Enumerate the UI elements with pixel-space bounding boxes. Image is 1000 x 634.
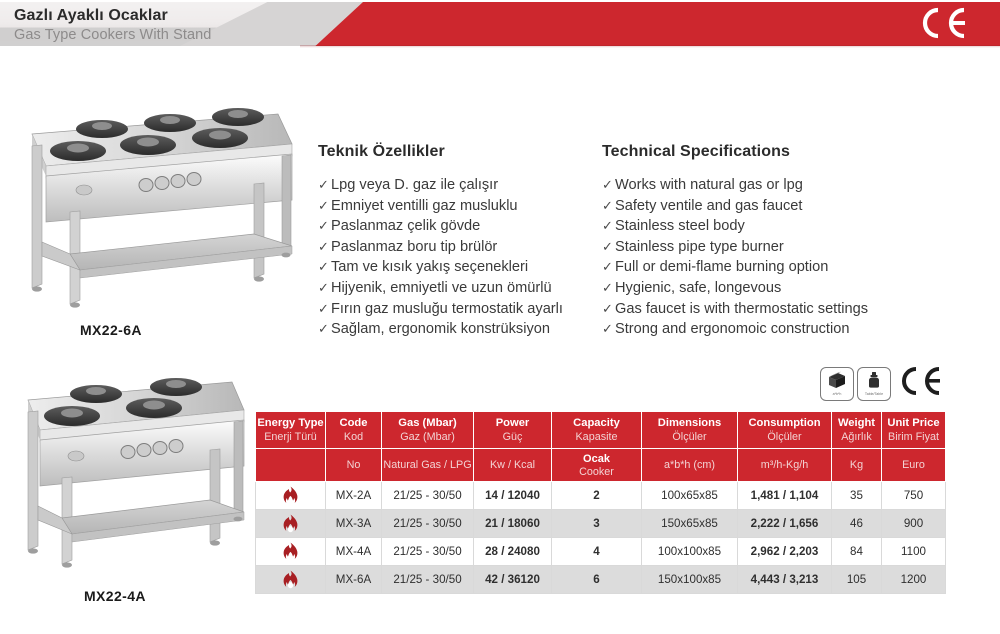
cell-unit-price: 750 <box>882 482 946 510</box>
table-header-row: Energy Type Enerji Türü Code Kod Gas (Mb… <box>256 412 946 449</box>
cell-unit-price: 1200 <box>882 566 946 594</box>
gas-bottle-icon-badge: Table/Table <box>857 367 891 401</box>
cell-gas: 21/25 - 30/50 <box>382 566 474 594</box>
check-icon: ✓ <box>602 319 615 340</box>
flame-icon <box>282 514 299 533</box>
list-item: ✓Works with natural gas or lpg <box>602 175 868 196</box>
check-icon: ✓ <box>318 319 331 340</box>
table-row: MX-4A 21/25 - 30/50 28 / 24080 4 100x100… <box>256 538 946 566</box>
check-icon: ✓ <box>602 278 615 299</box>
spec-text: Stainless steel body <box>615 218 745 234</box>
specs-turkish-list: ✓Lpg veya D. gaz ile çalışır ✓Emniyet ve… <box>318 175 563 340</box>
list-item: ✓Full or demi-flame burning option <box>602 257 868 278</box>
cell-code: MX-6A <box>326 566 382 594</box>
cell-power: 28 / 24080 <box>474 538 552 566</box>
spec-text: Hijyenik, emniyetli ve uzun ömürlü <box>331 280 552 296</box>
specs-english: Technical Specifications ✓Works with nat… <box>602 143 868 340</box>
certification-badges: a*b*h Table/Table <box>820 366 944 401</box>
cell-code: MX-4A <box>326 538 382 566</box>
column-header-energy-type: Energy Type Enerji Türü <box>256 412 326 449</box>
list-item: ✓Fırın gaz musluğu termostatik ayarlı <box>318 299 563 320</box>
spec-text: Paslanmaz boru tip brülör <box>331 239 497 255</box>
list-item: ✓Paslanmaz boru tip brülör <box>318 237 563 258</box>
column-header-weight: Weight Ağırlık <box>832 412 882 449</box>
product-caption-mx22-6a: MX22-6A <box>80 322 142 338</box>
cell-gas: 21/25 - 30/50 <box>382 510 474 538</box>
flame-icon <box>282 542 299 561</box>
table-row: MX-2A 21/25 - 30/50 14 / 12040 2 100x65x… <box>256 482 946 510</box>
list-item: ✓Tam ve kısık yakış seçenekleri <box>318 257 563 278</box>
list-item: ✓Lpg veya D. gaz ile çalışır <box>318 175 563 196</box>
cell-consumption: 1,481 / 1,104 <box>738 482 832 510</box>
gas-bottle-icon-caption: Table/Table <box>865 392 883 396</box>
cell-unit-price: 1100 <box>882 538 946 566</box>
cell-weight: 105 <box>832 566 882 594</box>
page-header: Gazlı Ayaklı Ocaklar Gas Type Cookers Wi… <box>0 0 1000 50</box>
subheader-code: No <box>326 449 382 482</box>
cell-dimensions: 100x100x85 <box>642 538 738 566</box>
spec-text: Paslanmaz çelik gövde <box>331 218 480 234</box>
check-icon: ✓ <box>602 299 615 320</box>
cell-weight: 35 <box>832 482 882 510</box>
page-title: Gazlı Ayaklı Ocaklar <box>14 7 168 25</box>
check-icon: ✓ <box>602 237 615 258</box>
cell-dimensions: 150x100x85 <box>642 566 738 594</box>
check-icon: ✓ <box>318 237 331 258</box>
cell-capacity: 4 <box>552 538 642 566</box>
list-item: ✓Hijyenik, emniyetli ve uzun ömürlü <box>318 278 563 299</box>
column-header-gas: Gas (Mbar) Gaz (Mbar) <box>382 412 474 449</box>
column-header-dimensions: Dimensions Ölçüler <box>642 412 738 449</box>
table-row: MX-3A 21/25 - 30/50 21 / 18060 3 150x65x… <box>256 510 946 538</box>
spec-text: Fırın gaz musluğu termostatik ayarlı <box>331 301 563 317</box>
check-icon: ✓ <box>602 257 615 278</box>
cell-power: 14 / 12040 <box>474 482 552 510</box>
list-item: ✓Safety ventile and gas faucet <box>602 196 868 217</box>
check-icon: ✓ <box>318 175 331 196</box>
column-header-consumption: Consumption Ölçüler <box>738 412 832 449</box>
specifications-table: Energy Type Enerji Türü Code Kod Gas (Mb… <box>255 411 946 594</box>
spec-text: Emniyet ventilli gaz musluklu <box>331 198 518 214</box>
header-band-shadow <box>300 45 1000 48</box>
spec-text: Strong and ergonomoic construction <box>615 321 849 337</box>
subheader-energy-type <box>256 449 326 482</box>
cell-consumption: 4,443 / 3,213 <box>738 566 832 594</box>
flame-icon <box>282 486 299 505</box>
table-row: MX-6A 21/25 - 30/50 42 / 36120 6 150x100… <box>256 566 946 594</box>
spec-text: Tam ve kısık yakış seçenekleri <box>331 259 528 275</box>
cell-energy-type <box>256 510 326 538</box>
cube-icon-caption: a*b*h <box>833 392 842 396</box>
gas-bottle-icon <box>866 371 882 391</box>
column-header-code: Code Kod <box>326 412 382 449</box>
table-subheader-row: No Natural Gas / LPG Kw / Kcal Ocak Cook… <box>256 449 946 482</box>
table-header: Energy Type Enerji Türü Code Kod Gas (Mb… <box>256 412 946 482</box>
cell-code: MX-3A <box>326 510 382 538</box>
cell-consumption: 2,222 / 1,656 <box>738 510 832 538</box>
list-item: ✓Stainless pipe type burner <box>602 237 868 258</box>
check-icon: ✓ <box>602 216 615 237</box>
product-image-mx22-4a <box>4 360 264 578</box>
subheader-dimensions: a*b*h (cm) <box>642 449 738 482</box>
product-caption-mx22-4a: MX22-4A <box>84 588 146 604</box>
cell-capacity: 3 <box>552 510 642 538</box>
specs-turkish: Teknik Özellikler ✓Lpg veya D. gaz ile ç… <box>318 143 563 340</box>
spec-text: Hygienic, safe, longevous <box>615 280 781 296</box>
check-icon: ✓ <box>318 216 331 237</box>
cell-code: MX-2A <box>326 482 382 510</box>
list-item: ✓Stainless steel body <box>602 216 868 237</box>
spec-text: Full or demi-flame burning option <box>615 259 828 275</box>
cell-weight: 84 <box>832 538 882 566</box>
page-subtitle: Gas Type Cookers With Stand <box>14 27 211 43</box>
check-icon: ✓ <box>318 278 331 299</box>
ce-mark-icon-table <box>898 366 944 401</box>
check-icon: ✓ <box>318 257 331 278</box>
specs-turkish-title: Teknik Özellikler <box>318 143 563 161</box>
subheader-unit-price: Euro <box>882 449 946 482</box>
cell-consumption: 2,962 / 2,203 <box>738 538 832 566</box>
cell-power: 21 / 18060 <box>474 510 552 538</box>
check-icon: ✓ <box>602 175 615 196</box>
spec-text: Safety ventile and gas faucet <box>615 198 802 214</box>
list-item: ✓Emniyet ventilli gaz musluklu <box>318 196 563 217</box>
subheader-weight: Kg <box>832 449 882 482</box>
cell-capacity: 6 <box>552 566 642 594</box>
ce-mark-icon <box>916 6 970 45</box>
product-image-mx22-6a <box>10 88 310 320</box>
spec-text: Sağlam, ergonomik konstrüksiyon <box>331 321 550 337</box>
cell-weight: 46 <box>832 510 882 538</box>
list-item: ✓Paslanmaz çelik gövde <box>318 216 563 237</box>
spec-text: Works with natural gas or lpg <box>615 177 803 193</box>
cell-energy-type <box>256 538 326 566</box>
header-red-band <box>300 2 1000 46</box>
column-header-unit-price: Unit Price Birim Fiyat <box>882 412 946 449</box>
list-item: ✓Gas faucet is with thermostatic setting… <box>602 299 868 320</box>
subheader-power: Kw / Kcal <box>474 449 552 482</box>
cell-energy-type <box>256 566 326 594</box>
cube-icon <box>826 371 848 391</box>
spec-text: Stainless pipe type burner <box>615 239 784 255</box>
spec-text: Lpg veya D. gaz ile çalışır <box>331 177 498 193</box>
specs-english-list: ✓Works with natural gas or lpg ✓Safety v… <box>602 175 868 340</box>
cell-capacity: 2 <box>552 482 642 510</box>
cell-unit-price: 900 <box>882 510 946 538</box>
cell-gas: 21/25 - 30/50 <box>382 482 474 510</box>
flame-icon <box>282 570 299 589</box>
list-item: ✓Strong and ergonomoic construction <box>602 319 868 340</box>
list-item: ✓Hygienic, safe, longevous <box>602 278 868 299</box>
spec-text: Gas faucet is with thermostatic settings <box>615 301 868 317</box>
column-header-capacity: Capacity Kapasite <box>552 412 642 449</box>
cell-dimensions: 100x65x85 <box>642 482 738 510</box>
cell-gas: 21/25 - 30/50 <box>382 538 474 566</box>
list-item: ✓Sağlam, ergonomik konstrüksiyon <box>318 319 563 340</box>
check-icon: ✓ <box>318 299 331 320</box>
check-icon: ✓ <box>318 196 331 217</box>
column-header-power: Power Güç <box>474 412 552 449</box>
cell-energy-type <box>256 482 326 510</box>
subheader-gas: Natural Gas / LPG <box>382 449 474 482</box>
check-icon: ✓ <box>602 196 615 217</box>
subheader-consumption: m³/h-Kg/h <box>738 449 832 482</box>
subheader-capacity: Ocak Cooker <box>552 449 642 482</box>
table-body: MX-2A 21/25 - 30/50 14 / 12040 2 100x65x… <box>256 482 946 594</box>
cube-icon-badge: a*b*h <box>820 367 854 401</box>
cell-dimensions: 150x65x85 <box>642 510 738 538</box>
specs-english-title: Technical Specifications <box>602 143 868 161</box>
cell-power: 42 / 36120 <box>474 566 552 594</box>
catalog-page: Gazlı Ayaklı Ocaklar Gas Type Cookers Wi… <box>0 0 1000 634</box>
